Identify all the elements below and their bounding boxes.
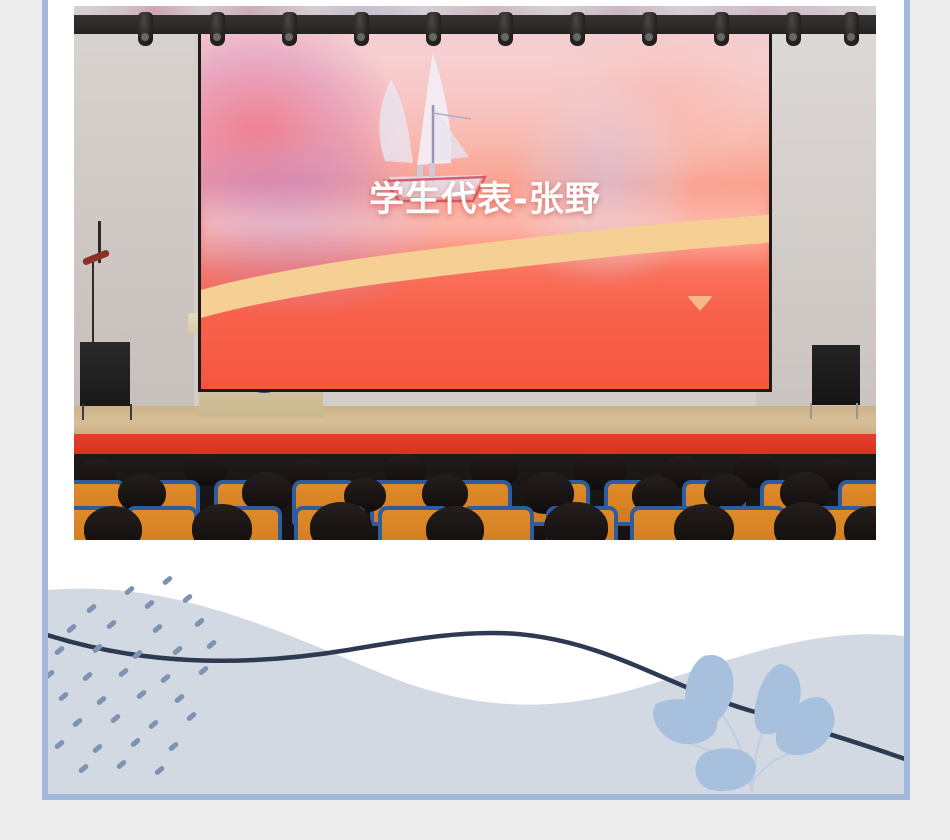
stage-light-icon (426, 12, 441, 46)
mic-stand (92, 256, 94, 346)
stage-light-icon (138, 12, 153, 46)
stage-light-icon (714, 12, 729, 46)
screenshot-root: 学生代表-张野 (0, 0, 950, 840)
screen-triangle-marker (687, 296, 713, 311)
stage-light-icon (354, 12, 369, 46)
stage-light-icon (498, 12, 513, 46)
led-screen-title: 学生代表-张野 (201, 171, 769, 222)
stage-light-icon (282, 12, 297, 46)
stage-light-icon (844, 12, 859, 46)
ceiling-strip (74, 6, 876, 15)
pa-speaker-right-stand (810, 403, 858, 419)
audience-seating (74, 454, 876, 540)
stage-front-panel (74, 434, 876, 456)
pa-speaker-left (80, 342, 130, 406)
stage-light-icon (570, 12, 585, 46)
pa-speaker-left-stand (82, 404, 132, 420)
led-screen: 学生代表-张野 (198, 20, 772, 392)
assembly-photo: 学生代表-张野 (74, 6, 876, 540)
stage-light-icon (786, 12, 801, 46)
pa-speaker-right (812, 345, 860, 405)
wave-footer-graphic (48, 564, 904, 794)
plant-leaf-decoration (650, 634, 860, 794)
stage-light-icon (210, 12, 225, 46)
document-page-card: 学生代表-张野 (42, 0, 910, 800)
stage-light-icon (642, 12, 657, 46)
